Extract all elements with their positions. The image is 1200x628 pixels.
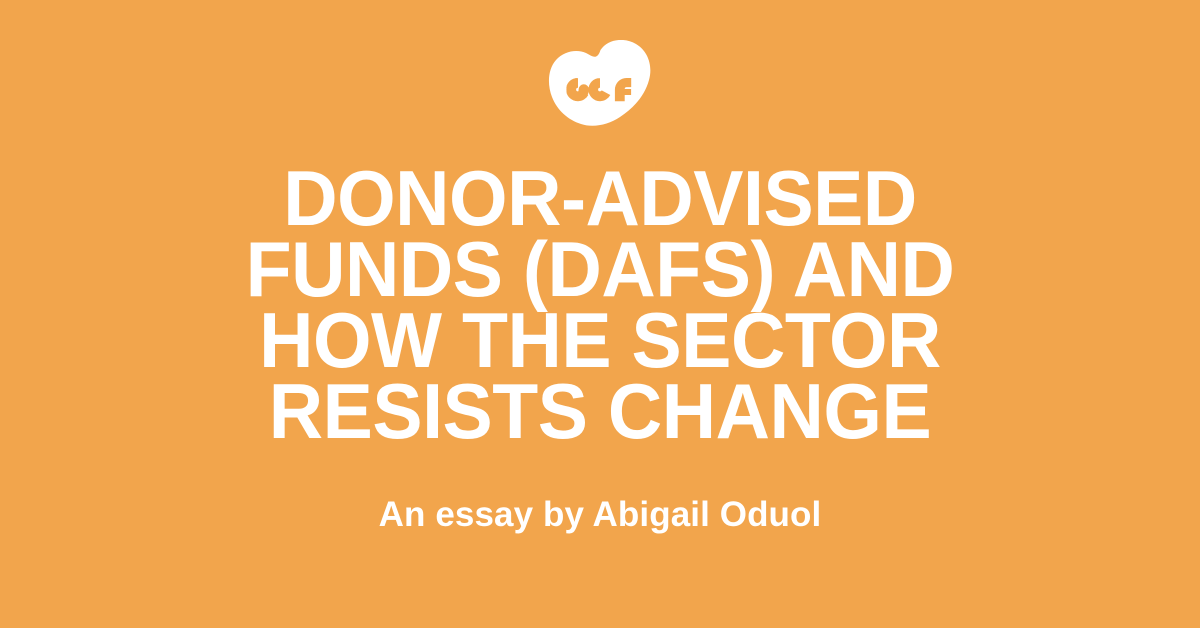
page-title: DONOR-ADVISED FUNDS (DAFS) AND HOW THE S… — [0, 163, 1200, 447]
subtitle-byline: An essay by Abigail Oduol — [0, 494, 1200, 536]
ccf-heart-logo — [548, 40, 652, 128]
title-line-4: RESISTS CHANGE — [21, 376, 1179, 447]
title-line-2: FUNDS (DAFS) AND — [21, 234, 1179, 305]
title-line-1: DONOR-ADVISED — [21, 163, 1179, 234]
title-line-3: HOW THE SECTOR — [21, 305, 1179, 376]
social-share-card: DONOR-ADVISED FUNDS (DAFS) AND HOW THE S… — [0, 0, 1200, 628]
